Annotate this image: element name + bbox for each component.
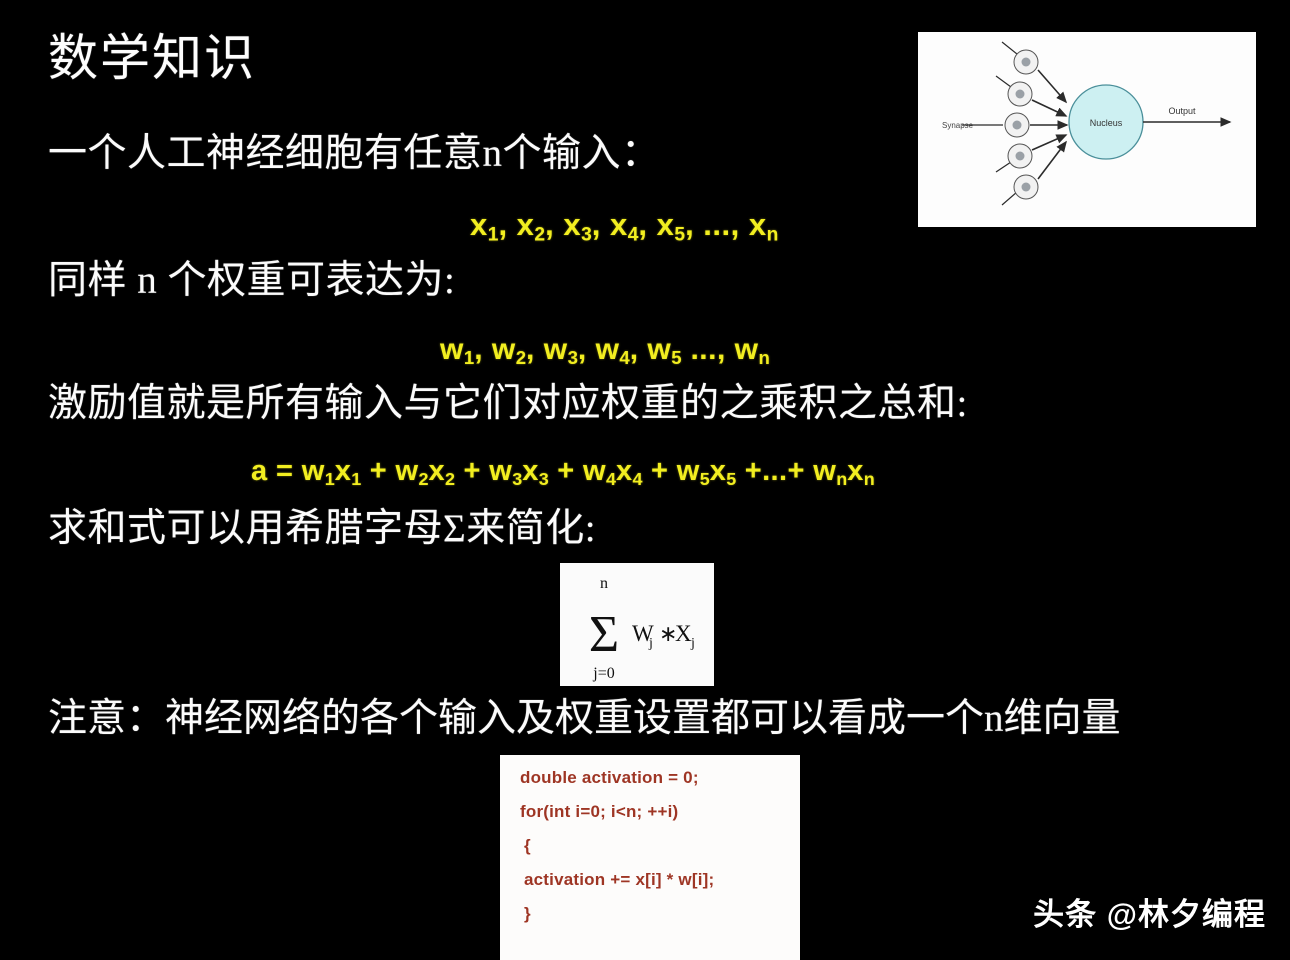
activation-formula-text: a = w1x1 + w2x2 + w3x3 + w4x4 + w5x5 +..…	[251, 455, 875, 487]
sigma-body-sub-w: j	[648, 636, 653, 651]
sigma-formula-card: n Σ j=0 W j ∗ X j	[560, 563, 714, 686]
weights-formula: w1, w2, w3, w4, w5 ..., wn	[440, 333, 770, 369]
output-label: Output	[1168, 106, 1196, 116]
page-title: 数学知识	[48, 32, 256, 85]
code-block-card: double activation = 0; for(int i=0; i<n;…	[500, 755, 800, 960]
inputs-intro-text: 一个人工神经细胞有任意n个输入：	[48, 133, 661, 176]
sigma-body-sub-x: j	[690, 636, 695, 651]
nucleus-label: Nucleus	[1090, 118, 1123, 128]
note-text: 注意：神经网络的各个输入及权重设置都可以看成一个n维向量	[48, 698, 1121, 741]
neuron-diagram-card: Nucleus Output Synapse	[918, 32, 1256, 227]
watermark-text: 头条 @林夕编程	[1033, 889, 1266, 934]
activation-intro-text: 激励值就是所有输入与它们对应权重的之乘积之总和:	[48, 383, 968, 426]
slide-canvas: 数学知识 一个人工神经细胞有任意n个输入： x1, x2, x3, x4, x5…	[0, 0, 1290, 960]
code-line: activation += x[i] * w[i];	[500, 871, 800, 888]
sigma-formula-graphic: n Σ j=0 W j ∗ X j	[560, 563, 714, 686]
activation-formula: a = w1x1 + w2x2 + w3x3 + w4x4 + w5x5 +..…	[251, 455, 875, 490]
sigma-intro-text: 求和式可以用希腊字母Σ来简化:	[48, 508, 596, 551]
inputs-formula-text: x1, x2, x3, x4, x5, ..., xn	[470, 207, 778, 242]
sigma-lower-limit: j=0	[592, 665, 614, 682]
code-line: double activation = 0;	[500, 769, 800, 786]
code-line: for(int i=0; i<n; ++i)	[500, 803, 800, 820]
inputs-formula: x1, x2, x3, x4, x5, ..., xn	[470, 207, 778, 246]
code-line: {	[500, 837, 800, 854]
synapse-label: Synapse	[942, 121, 974, 130]
code-line: }	[500, 905, 800, 922]
weights-intro-text: 同样 n 个权重可表达为:	[48, 260, 455, 303]
weights-formula-text: w1, w2, w3, w4, w5 ..., wn	[440, 333, 770, 366]
sigma-upper-limit: n	[600, 575, 608, 592]
sigma-body-x: X	[675, 621, 692, 646]
sigma-symbol: Σ	[589, 606, 619, 663]
neuron-diagram-graphic: Nucleus Output Synapse	[918, 32, 1256, 227]
